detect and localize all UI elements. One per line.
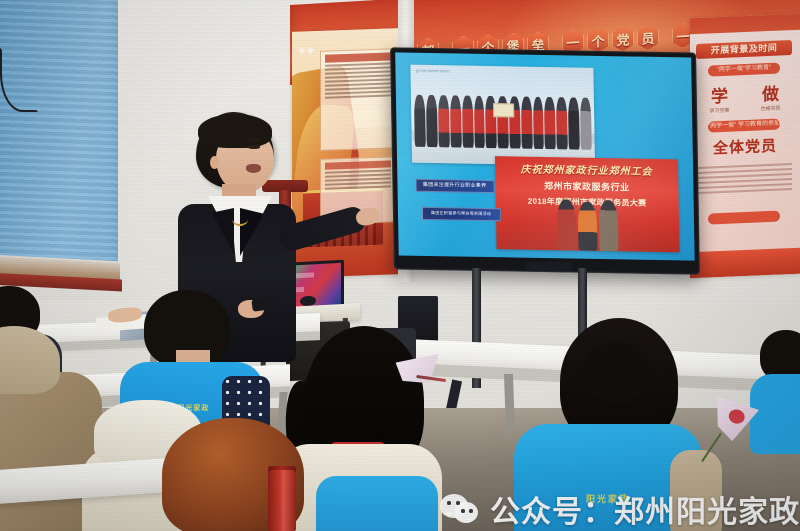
watermark: 公众号：郑州阳光家政服务公司 [440,487,800,531]
attendee-fur-hood [0,326,60,394]
blind-slats [0,0,118,274]
attendee-hair-bun [582,342,654,402]
poster-big-text: 全体党员 [690,134,800,160]
presenter-mouth [246,164,261,173]
presentation-display[interactable]: group-award-photo [390,47,700,274]
red-thermos [268,470,296,531]
poster-tag-2: "两学一做" 学习教育的参加对象 [708,119,780,133]
slogan-char: 党 [612,26,634,52]
poster-text-line [325,94,390,98]
poster-big-char: 学 [711,81,728,107]
poster-block-header [325,52,390,62]
photo-scene: ☭ 一 个 支 部 一 个 堡 垒 一 个 党 员 一 面 旗 帜 ✤✤ [0,0,800,531]
window-blind [0,0,118,274]
presenter-fringe [198,114,272,148]
wechat-dot [461,509,465,513]
poster-big-char: 做 [762,79,779,105]
flower-bouquet-center [395,353,453,404]
watermark-text: 公众号：郑州阳光家政服务公司 [490,487,800,531]
attendee-red-hair [162,418,322,531]
poster-sub-label: 学习党章 [709,107,729,115]
wechat-dot [447,501,451,505]
screen-glare [395,52,694,260]
tv-control-box [526,262,572,271]
wechat-dot [469,509,473,513]
poster-body-text [698,160,792,197]
poster-bottom-strip [690,248,800,279]
poster-sub-label: 合格党员 [760,105,780,113]
presenter-necklace [232,212,248,226]
slogan-char: 个 [587,27,609,53]
wechat-dot [456,501,460,505]
dove-icon: ✤✤ [298,46,315,56]
presenter-ear [210,156,219,169]
presenter-eyebrow [247,139,261,142]
attendee-blue-vest [316,476,438,531]
tv-screen[interactable]: group-award-photo [395,52,694,260]
poster-pill-label: 开展背景及时间 [696,40,792,59]
slogan-char: 员 [637,24,659,50]
wechat-bubble-small [454,502,478,523]
bouquet-wrapper [395,354,442,388]
poster-tag-1: "两学一做"学习教育" [708,63,780,77]
poster-tag-3 [708,211,780,225]
attendee-far-right [760,330,800,450]
presenter-eye [248,145,260,149]
bouquet-stem [701,433,722,462]
poster-text-line [698,188,792,194]
poster-red-header [690,14,800,35]
wechat-icon [440,492,480,526]
study-campaign-poster: 开展背景及时间 "两学一做"学习教育" 学 做 学习党章 合格党员 "两学一做"… [690,14,800,279]
